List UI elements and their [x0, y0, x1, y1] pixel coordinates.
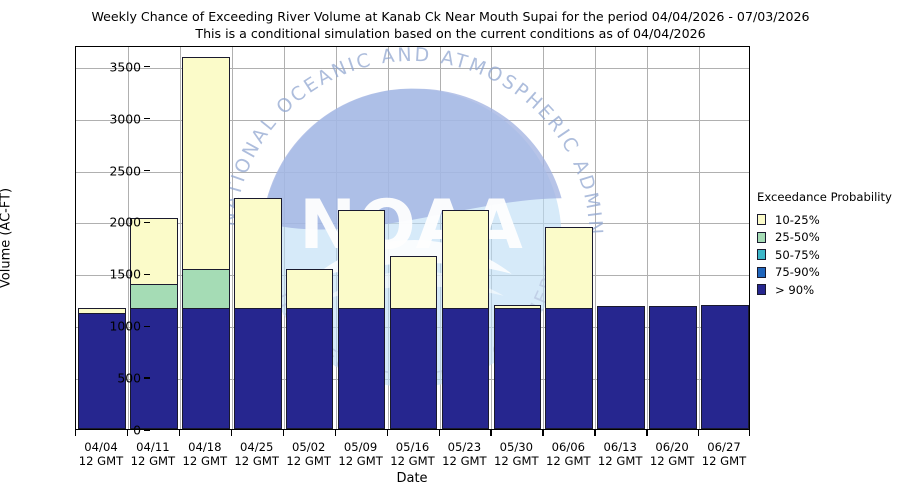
chart-root: Weekly Chance of Exceeding River Volume …	[0, 0, 901, 497]
x-tick-label-date: 04/04	[79, 440, 124, 454]
x-tick-06/13	[594, 430, 595, 436]
y-tick-label-2500: 2500	[109, 163, 141, 178]
legend: Exceedance Probability 10-25%25-50%50-75…	[757, 190, 901, 299]
bar-04/25[interactable]	[234, 47, 282, 429]
x-tick-label-04/04: 04/0412 GMT	[79, 440, 124, 468]
bar-segment-1025	[494, 305, 542, 309]
legend-swatch-icon	[757, 232, 766, 243]
x-tick-label-04/11: 04/1112 GMT	[131, 440, 176, 468]
bar-06/27[interactable]	[701, 47, 749, 429]
bar-segment-1025	[234, 198, 282, 309]
bar-segment-2550	[182, 268, 230, 309]
y-tick-3000	[144, 118, 150, 119]
y-tick-label-3000: 3000	[109, 111, 141, 126]
y-tick-label-1500: 1500	[109, 267, 141, 282]
x-tick-label-date: 06/20	[650, 440, 695, 454]
legend-item-label: 50-75%	[775, 248, 820, 262]
x-tick-end	[749, 430, 750, 436]
y-tick-2000	[144, 222, 150, 223]
bar-segment-1025	[442, 210, 490, 309]
bar-segment-90	[234, 308, 282, 429]
bar-segment-1025	[78, 308, 126, 314]
bar-segment-1025	[545, 227, 593, 309]
x-tick-label-time: 12 GMT	[79, 454, 124, 468]
bar-segment-90	[701, 305, 749, 429]
legend-item-label: 10-25%	[775, 213, 820, 227]
bar-04/18[interactable]	[182, 47, 230, 429]
legend-item-1025[interactable]: 10-25%	[757, 211, 901, 229]
x-tick-label-time: 12 GMT	[442, 454, 487, 468]
x-tick-06/06	[542, 430, 543, 436]
bar-segment-90	[494, 308, 542, 429]
legend-swatch-icon	[757, 249, 766, 260]
x-tick-label-time: 12 GMT	[390, 454, 435, 468]
y-axis-title: Volume (AC-FT)	[0, 188, 14, 288]
x-tick-05/30	[490, 430, 491, 436]
gridline-x-8	[491, 47, 492, 429]
y-tick-label-1000: 1000	[109, 319, 141, 334]
x-tick-04/18	[179, 430, 180, 436]
x-tick-label-time: 12 GMT	[338, 454, 383, 468]
gridline-x-7	[440, 47, 441, 429]
x-axis-title: Date	[396, 471, 427, 486]
x-tick-label-06/13: 06/1312 GMT	[598, 440, 643, 468]
gridline-x-5	[336, 47, 337, 429]
legend-item-label: 75-90%	[775, 265, 820, 279]
x-tick-04/25	[231, 430, 232, 436]
y-tick-3500	[144, 66, 150, 67]
legend-item-5075[interactable]: 50-75%	[757, 246, 901, 264]
x-tick-label-time: 12 GMT	[494, 454, 539, 468]
x-tick-06/20	[646, 430, 647, 436]
bar-segment-1025	[182, 57, 230, 270]
x-tick-label-date: 05/30	[494, 440, 539, 454]
bar-segment-1025	[338, 210, 386, 309]
x-tick-label-time: 12 GMT	[650, 454, 695, 468]
bar-segment-90	[286, 308, 334, 429]
x-tick-05/09	[335, 430, 336, 436]
y-tick-0	[144, 429, 150, 430]
x-tick-label-date: 06/13	[598, 440, 643, 454]
chart-title-line-1: Weekly Chance of Exceeding River Volume …	[0, 8, 901, 25]
gridline-x-10	[595, 47, 596, 429]
x-tick-label-06/27: 06/2712 GMT	[702, 440, 747, 468]
legend-item-label: 25-50%	[775, 230, 820, 244]
bar-05/30[interactable]	[494, 47, 542, 429]
gridline-x-2	[180, 47, 181, 429]
x-tick-label-date: 05/09	[338, 440, 383, 454]
x-tick-04/11	[127, 430, 128, 436]
bar-06/20[interactable]	[649, 47, 697, 429]
legend-swatch-icon	[757, 284, 766, 295]
bar-segment-90	[390, 308, 438, 429]
gridline-x-6	[388, 47, 389, 429]
plot-inner: NOAA NATIONAL OCEANIC AND ATMOSPHERIC AD…	[76, 47, 749, 429]
x-tick-label-05/30: 05/3012 GMT	[494, 440, 539, 468]
bar-segment-1025	[390, 256, 438, 308]
x-tick-label-date: 04/11	[131, 440, 176, 454]
x-tick-label-05/02: 05/0212 GMT	[286, 440, 331, 468]
bar-segment-90	[597, 306, 645, 429]
legend-items: 10-25%25-50%50-75%75-90%> 90%	[757, 211, 901, 299]
legend-item-7590[interactable]: 75-90%	[757, 264, 901, 282]
x-tick-label-06/20: 06/2012 GMT	[650, 440, 695, 468]
bar-segment-90	[338, 308, 386, 429]
x-tick-label-time: 12 GMT	[702, 454, 747, 468]
y-tick-1000	[144, 326, 150, 327]
x-tick-label-time: 12 GMT	[598, 454, 643, 468]
x-tick-06/27	[698, 430, 699, 436]
chart-title-block: Weekly Chance of Exceeding River Volume …	[0, 8, 901, 42]
x-tick-label-date: 05/23	[442, 440, 487, 454]
y-tick-2500	[144, 170, 150, 171]
x-tick-label-06/06: 06/0612 GMT	[546, 440, 591, 468]
x-tick-label-date: 06/27	[702, 440, 747, 454]
bar-05/02[interactable]	[286, 47, 334, 429]
legend-item-label: > 90%	[775, 283, 814, 297]
bar-segment-1025	[286, 269, 334, 309]
x-tick-label-date: 06/06	[546, 440, 591, 454]
bar-06/06[interactable]	[545, 47, 593, 429]
plot-area: NOAA NATIONAL OCEANIC AND ATMOSPHERIC AD…	[75, 46, 750, 430]
x-tick-label-date: 04/25	[234, 440, 279, 454]
y-tick-label-3500: 3500	[109, 59, 141, 74]
x-tick-label-04/25: 04/2512 GMT	[234, 440, 279, 468]
y-tick-label-500: 500	[117, 371, 141, 386]
x-tick-label-date: 05/16	[390, 440, 435, 454]
y-tick-500	[144, 377, 150, 378]
bar-05/23[interactable]	[442, 47, 490, 429]
x-tick-label-date: 04/18	[183, 440, 228, 454]
x-tick-label-time: 12 GMT	[234, 454, 279, 468]
x-tick-label-05/09: 05/0912 GMT	[338, 440, 383, 468]
x-tick-05/23	[439, 430, 440, 436]
y-tick-1500	[144, 274, 150, 275]
x-tick-05/02	[283, 430, 284, 436]
x-tick-label-time: 12 GMT	[546, 454, 591, 468]
x-tick-04/04	[75, 430, 76, 436]
bar-segment-90	[442, 308, 490, 429]
gridline-x-3	[232, 47, 233, 429]
gridline-x-12	[699, 47, 700, 429]
bar-05/16[interactable]	[390, 47, 438, 429]
legend-item-2550[interactable]: 25-50%	[757, 229, 901, 247]
x-tick-label-date: 05/02	[286, 440, 331, 454]
x-tick-label-time: 12 GMT	[131, 454, 176, 468]
x-tick-label-05/23: 05/2312 GMT	[442, 440, 487, 468]
gridline-x-4	[284, 47, 285, 429]
legend-item-90[interactable]: > 90%	[757, 281, 901, 299]
bar-06/13[interactable]	[597, 47, 645, 429]
gridline-x-9	[543, 47, 544, 429]
legend-title: Exceedance Probability	[757, 190, 901, 204]
legend-swatch-icon	[757, 267, 766, 278]
x-tick-label-time: 12 GMT	[183, 454, 228, 468]
chart-title-line-2: This is a conditional simulation based o…	[0, 25, 901, 42]
x-tick-05/16	[387, 430, 388, 436]
y-tick-label-0: 0	[133, 423, 141, 438]
bar-segment-90	[182, 308, 230, 429]
bar-segment-90	[649, 306, 697, 429]
x-tick-label-04/18: 04/1812 GMT	[183, 440, 228, 468]
legend-swatch-icon	[757, 214, 766, 225]
y-tick-label-2000: 2000	[109, 215, 141, 230]
x-tick-label-time: 12 GMT	[286, 454, 331, 468]
bar-segment-2550	[130, 283, 178, 308]
x-tick-label-05/16: 05/1612 GMT	[390, 440, 435, 468]
gridline-x-11	[647, 47, 648, 429]
bar-05/09[interactable]	[338, 47, 386, 429]
bar-segment-90	[545, 308, 593, 429]
